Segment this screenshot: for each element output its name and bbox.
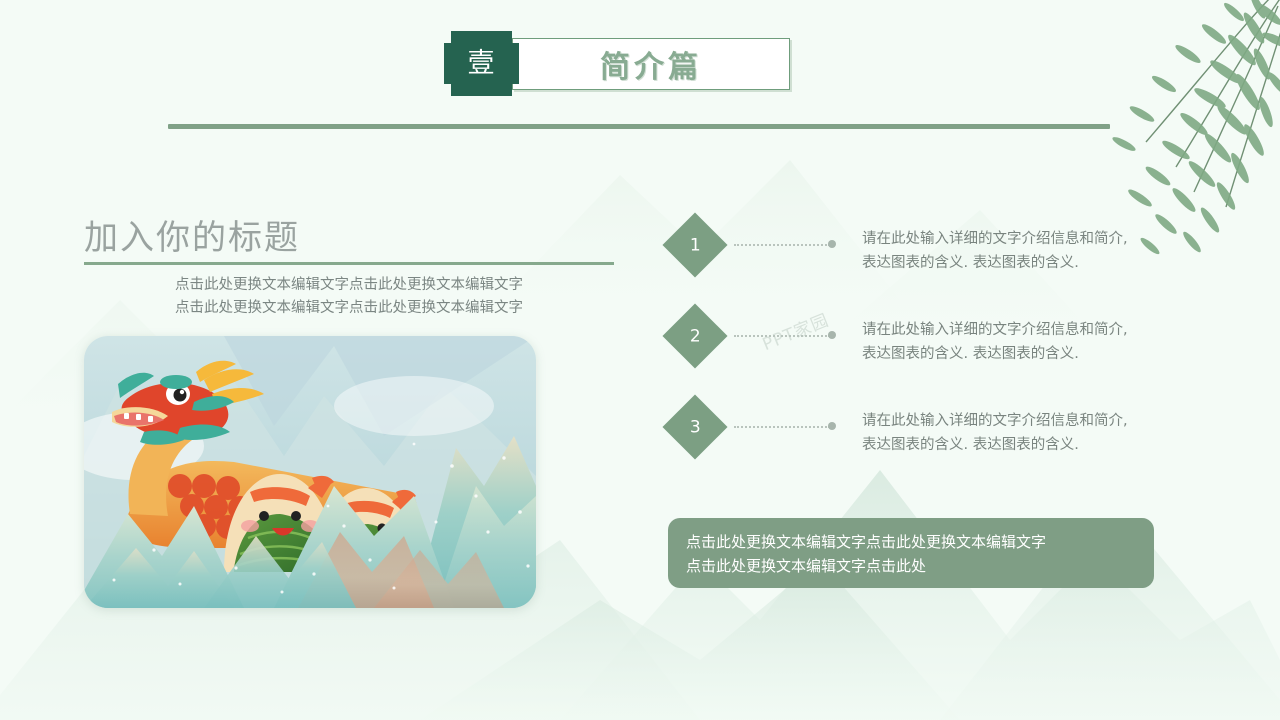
step-connector-dot [828,422,836,430]
slide-canvas: 壹 简介篇 加入你的标题 点击此处更换文本编辑文字点击此处更换文本编辑文字 点击… [0,0,1280,720]
header-divider [168,124,1110,129]
step-diamond-icon: 1 [662,212,727,277]
page-title: 简介篇 [600,42,702,86]
step-connector-line [734,426,830,428]
step-connector-dot [828,331,836,339]
step-description-line-2: 表达图表的含义. 表达图表的含义. [862,252,1202,276]
step-description: 请在此处输入详细的文字介绍信息和简介, 表达图表的含义. 表达图表的含义. [862,228,1202,276]
dragon-boat-zongzi-illustration [84,336,536,608]
step-description-line-2: 表达图表的含义. 表达图表的含义. [862,343,1202,367]
step-diamond-icon: 2 [662,303,727,368]
left-heading-underline [84,262,614,265]
step-number: 1 [690,235,701,255]
step-description-line-2: 表达图表的含义. 表达图表的含义. [862,434,1202,458]
summary-callout-line-2: 点击此处更换文本编辑文字点击此处 [686,554,1136,578]
watermark: PPT家园 [758,306,832,355]
step-connector-line [734,335,830,337]
section-title-box: 简介篇 [512,38,790,90]
step-connector-line [734,244,830,246]
badge-label: 壹 [468,50,496,77]
summary-callout-line-1: 点击此处更换文本编辑文字点击此处更换文本编辑文字 [686,530,1136,554]
left-heading: 加入你的标题 [84,210,300,259]
slide-header: 壹 简介篇 [0,0,1280,130]
left-body-line-1: 点击此处更换文本编辑文字点击此处更换文本编辑文字 [84,274,614,297]
step-number: 2 [690,326,701,346]
step-description: 请在此处输入详细的文字介绍信息和简介, 表达图表的含义. 表达图表的含义. [862,319,1202,367]
step-description-line-1: 请在此处输入详细的文字介绍信息和简介, [862,319,1202,343]
summary-callout: 点击此处更换文本编辑文字点击此处更换文本编辑文字 点击此处更换文本编辑文字点击此… [668,518,1154,588]
left-body-text: 点击此处更换文本编辑文字点击此处更换文本编辑文字 点击此处更换文本编辑文字点击此… [84,274,614,320]
step-description: 请在此处输入详细的文字介绍信息和简介, 表达图表的含义. 表达图表的含义. [862,410,1202,458]
step-description-line-1: 请在此处输入详细的文字介绍信息和简介, [862,410,1202,434]
left-body-line-2: 点击此处更换文本编辑文字点击此处更换文本编辑文字 [84,297,614,320]
step-diamond-icon: 3 [662,394,727,459]
step-description-line-1: 请在此处输入详细的文字介绍信息和简介, [862,228,1202,252]
section-number-badge: 壹 [444,31,519,96]
step-connector-dot [828,240,836,248]
step-number: 3 [690,417,701,437]
